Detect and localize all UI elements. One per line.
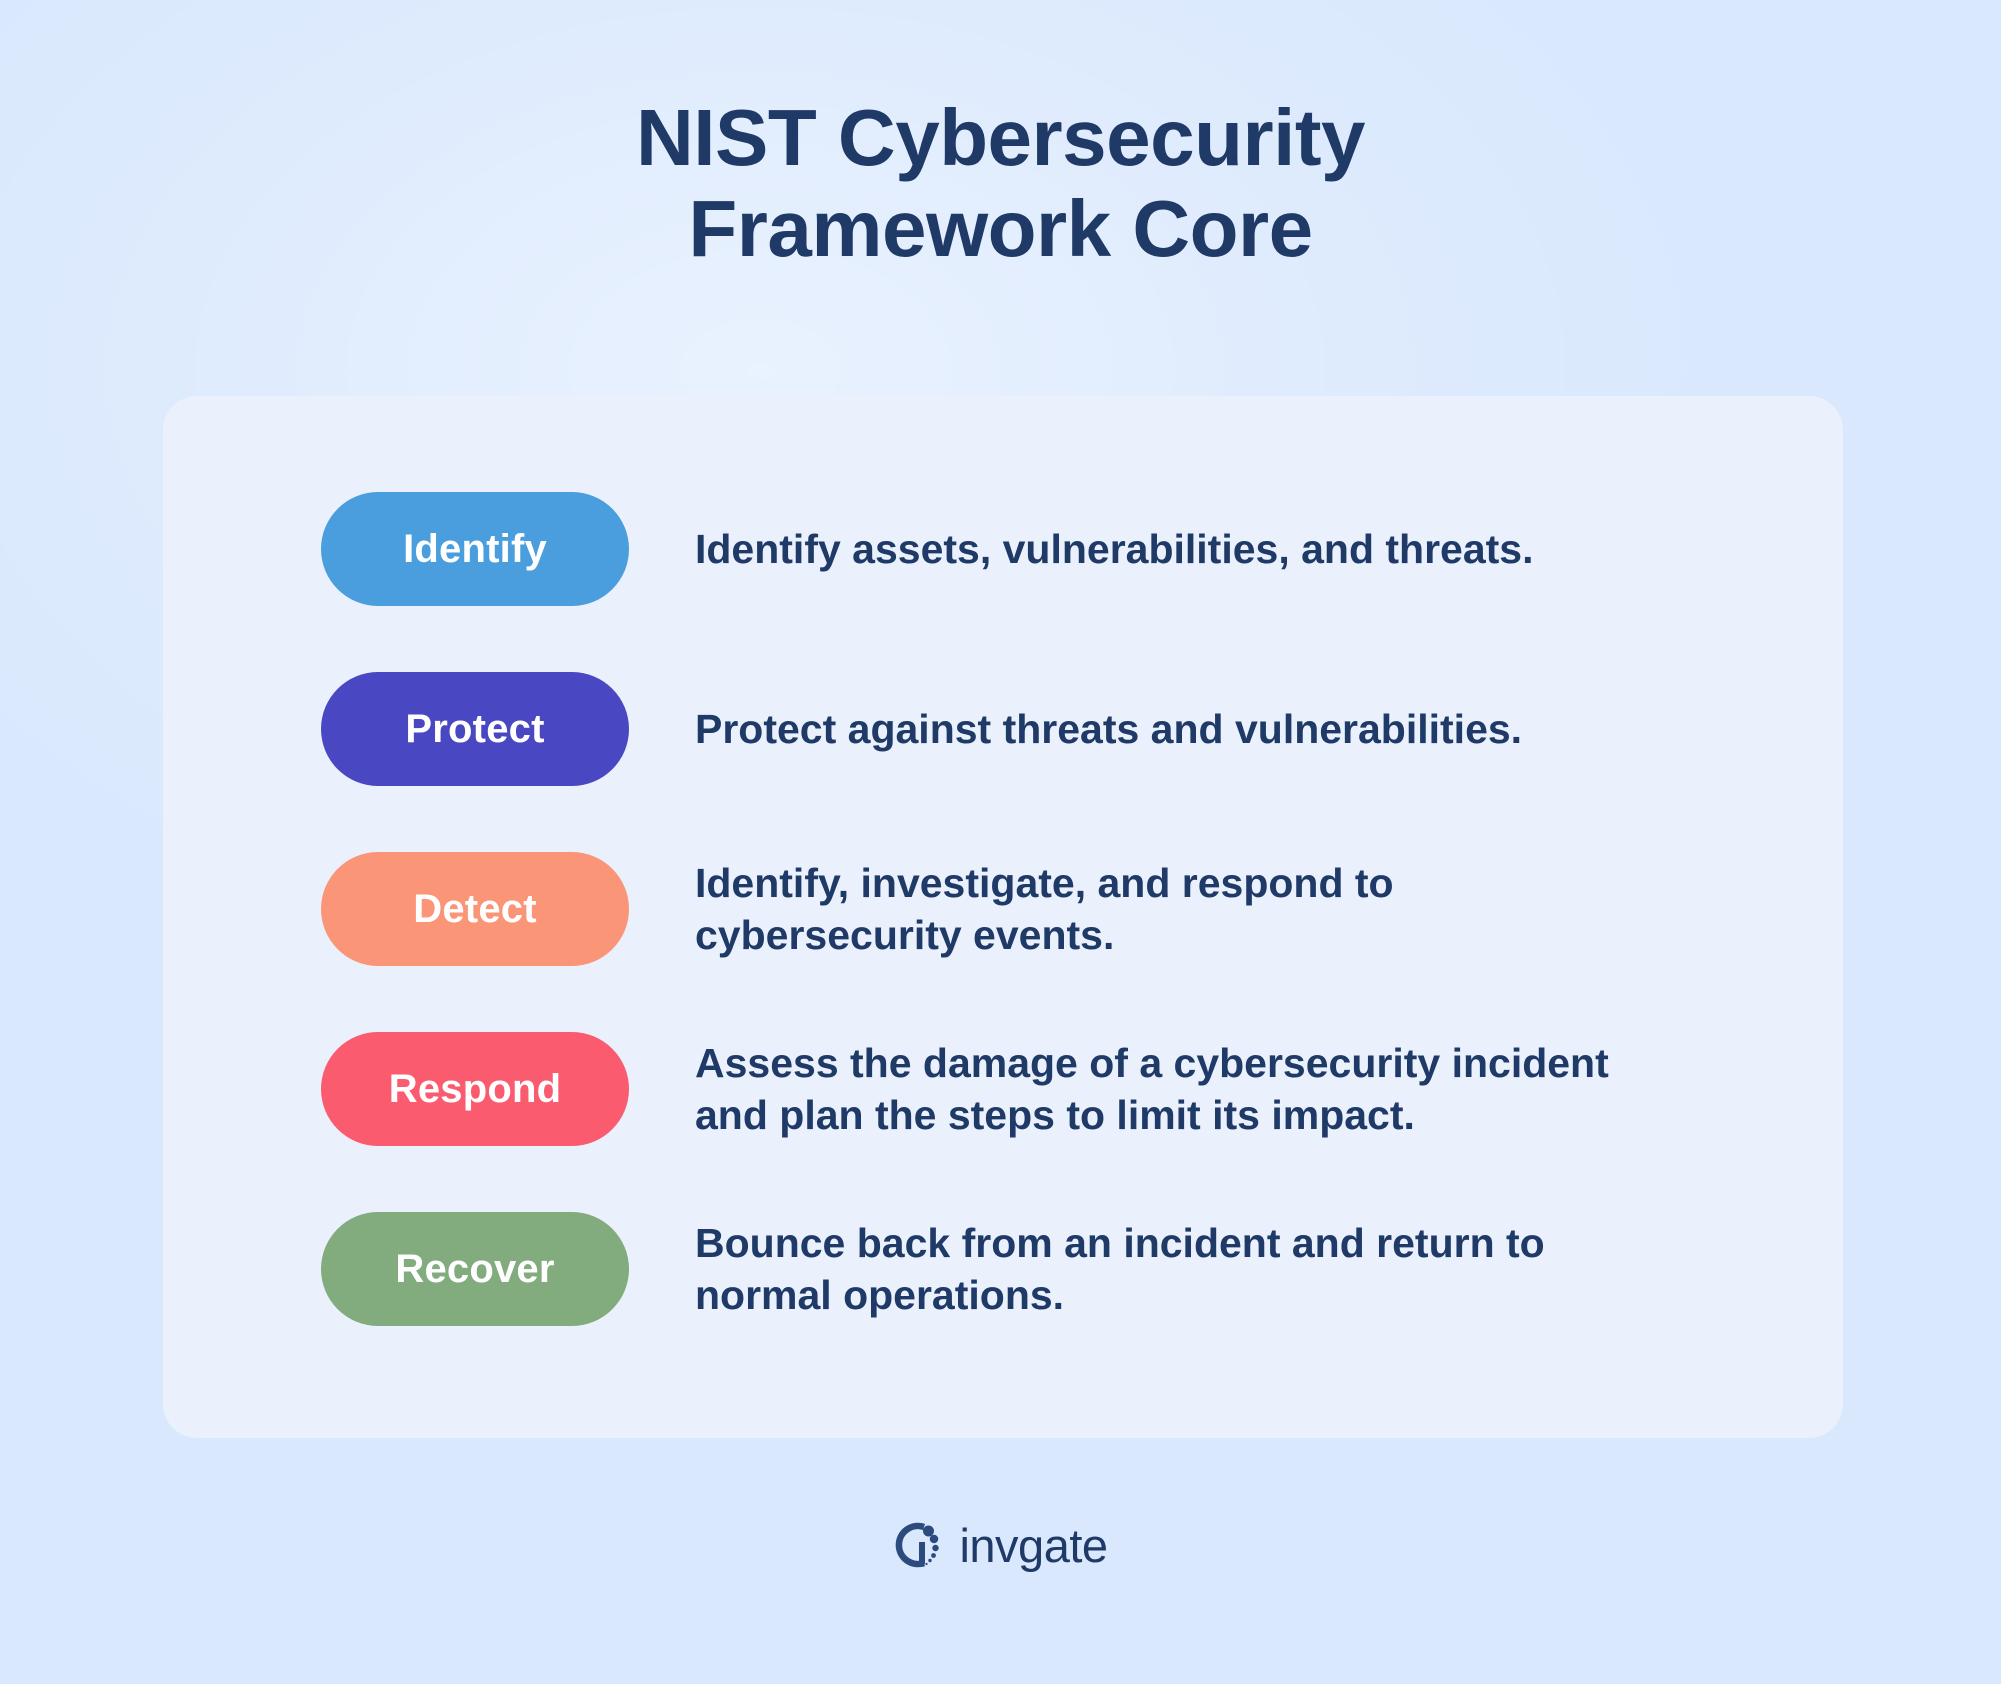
function-description-line: normal operations. xyxy=(695,1269,1545,1321)
function-pill-label: Protect xyxy=(405,707,544,752)
function-pill-protect[interactable]: Protect xyxy=(321,672,629,786)
function-pill-label: Identify xyxy=(403,527,547,572)
function-pill-recover[interactable]: Recover xyxy=(321,1212,629,1326)
function-description-line: and plan the steps to limit its impact. xyxy=(695,1089,1609,1141)
function-pill-detect[interactable]: Detect xyxy=(321,852,629,966)
function-description: Identify assets, vulnerabilities, and th… xyxy=(695,523,1534,575)
function-description: Bounce back from an incident and return … xyxy=(695,1217,1545,1322)
function-pill-respond[interactable]: Respond xyxy=(321,1032,629,1146)
function-description-line: Bounce back from an incident and return … xyxy=(695,1217,1545,1269)
page-title: NIST Cybersecurity Framework Core xyxy=(351,92,1651,274)
framework-card: IdentifyIdentify assets, vulnerabilities… xyxy=(163,396,1843,1438)
function-description: Identify, investigate, and respond tocyb… xyxy=(695,857,1394,962)
function-pill-label: Respond xyxy=(389,1067,562,1112)
function-description-line: Protect against threats and vulnerabilit… xyxy=(695,703,1522,755)
framework-function-row: IdentifyIdentify assets, vulnerabilities… xyxy=(321,489,1783,609)
function-pill-identify[interactable]: Identify xyxy=(321,492,629,606)
function-description-line: Assess the damage of a cybersecurity inc… xyxy=(695,1037,1609,1089)
function-pill-label: Detect xyxy=(413,887,536,932)
function-description: Assess the damage of a cybersecurity inc… xyxy=(695,1037,1609,1142)
function-description-line: cybersecurity events. xyxy=(695,909,1394,961)
framework-function-row: RespondAssess the damage of a cybersecur… xyxy=(321,1029,1783,1149)
function-pill-label: Recover xyxy=(395,1247,554,1292)
invgate-swirl-icon xyxy=(893,1520,943,1570)
framework-function-row: RecoverBounce back from an incident and … xyxy=(321,1209,1783,1329)
function-description-line: Identify, investigate, and respond to xyxy=(695,857,1394,909)
framework-function-row: DetectIdentify, investigate, and respond… xyxy=(321,849,1783,969)
page-title-line-2: Framework Core xyxy=(351,183,1651,274)
framework-function-row: ProtectProtect against threats and vulne… xyxy=(321,669,1783,789)
infographic-page: NIST Cybersecurity Framework Core Identi… xyxy=(0,0,2001,1684)
brand-name: invgate xyxy=(959,1522,1107,1569)
page-title-line-1: NIST Cybersecurity xyxy=(351,92,1651,183)
function-description-line: Identify assets, vulnerabilities, and th… xyxy=(695,523,1534,575)
framework-function-list: IdentifyIdentify assets, vulnerabilities… xyxy=(321,489,1783,1329)
brand-footer: invgate xyxy=(0,1520,2001,1570)
function-description: Protect against threats and vulnerabilit… xyxy=(695,703,1522,755)
